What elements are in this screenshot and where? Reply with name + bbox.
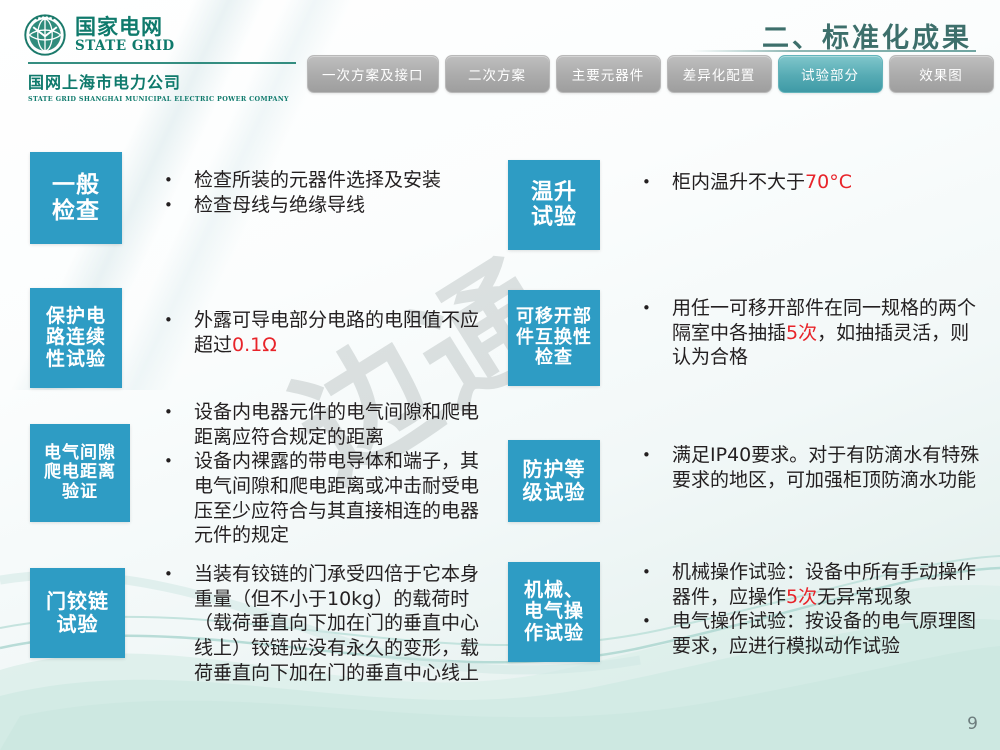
test-item-bullets: •满足IP40要求。对于有防滴水有特殊要求的地区，可加强柜顶防滴水功能 [638,443,983,492]
bullet-dot-icon: • [638,443,672,467]
company-name-en: STATE GRID SHANGHAI MUNICIPAL ELECTRIC P… [24,95,299,103]
text-run: 无异常现象 [817,586,912,608]
bullet-dot-icon: • [160,193,194,217]
test-item-badge: 保护电 路连续 性试验 [30,288,122,388]
bullet-dot-icon: • [160,168,194,192]
highlight-value: 0.1Ω [232,334,277,356]
test-item-bullets: •检查所装的元器件选择及安装•检查母线与绝缘导线 [160,168,490,217]
bullet-dot-icon: • [638,560,672,584]
bullet-dot-icon: • [160,400,194,424]
bullet-text: 检查母线与绝缘导线 [194,193,490,218]
bullet-dot-icon: • [160,449,194,473]
company-name-cn: 国网上海市电力公司 [24,69,299,93]
text-run: 设备内裸露的带电导体和端子，其电气间隙和爬电距离或冲击耐受电压至少应符合与其直接… [194,450,479,546]
bullet-dot-icon: • [638,296,672,320]
text-run: 检查母线与绝缘导线 [194,194,365,216]
bullet-row: •设备内裸露的带电导体和端子，其电气间隙和爬电距离或冲击耐受电压至少应符合与其直… [160,449,490,548]
bullet-text: 当装有铰链的门承受四倍于它本身重量（但不小于10kg）的载荷时（载荷垂直向下加在… [194,562,490,685]
tab-4[interactable]: 差异化配置 [667,55,772,93]
test-item-badge: 电气间隙 爬电距离 验证 [30,424,130,522]
tab-1[interactable]: 一次方案及接口 [307,55,439,93]
bullet-row: •检查所装的元器件选择及安装 [160,168,490,193]
bullet-text: 机械操作试验：设备中所有手动操作器件，应操作5次无异常现象 [672,560,983,609]
text-run: 满足IP40要求。对于有防滴水有特殊要求的地区，可加强柜顶防滴水功能 [672,444,979,491]
slide-canvas: 边通 国家电网 STATE GRID [0,0,1000,750]
bullet-text: 满足IP40要求。对于有防滴水有特殊要求的地区，可加强柜顶防滴水功能 [672,443,983,492]
title-underline [691,50,976,52]
brand-logo-block: 国家电网 STATE GRID 国网上海市电力公司 STATE GRID SHA… [24,14,299,103]
highlight-value: 5次 [786,586,817,608]
bullet-text: 外露可导电部分电路的电阻值不应超过0.1Ω [194,308,490,357]
brand-name-en: STATE GRID [75,40,175,54]
bullet-dot-icon: • [638,170,672,194]
text-run: 检查所装的元器件选择及安装 [194,169,441,191]
bullet-row: •满足IP40要求。对于有防滴水有特殊要求的地区，可加强柜顶防滴水功能 [638,443,983,492]
test-item-bullets: •用任一可移开部件在同一规格的两个隔室中各抽插5次，如抽插灵活，则认为合格 [638,296,983,370]
bullet-text: 用任一可移开部件在同一规格的两个隔室中各抽插5次，如抽插灵活，则认为合格 [672,296,983,370]
bullet-text: 柜内温升不大于70°C [672,170,983,195]
section-tabbar[interactable]: 一次方案及接口二次方案主要元器件差异化配置试验部分效果图 [307,55,994,93]
test-item-badge: 防护等 级试验 [508,440,600,522]
test-item-bullets: •机械操作试验：设备中所有手动操作器件，应操作5次无异常现象•电气操作试验：按设… [638,560,983,659]
bullet-row: •电气操作试验：按设备的电气原理图要求，应进行模拟动作试验 [638,609,983,658]
highlight-value: 70°C [805,171,852,193]
bullet-text: 电气操作试验：按设备的电气原理图要求，应进行模拟动作试验 [672,609,983,658]
tab-6[interactable]: 效果图 [889,55,994,93]
bullet-row: •机械操作试验：设备中所有手动操作器件，应操作5次无异常现象 [638,560,983,609]
test-item-badge: 机械、 电气操 作试验 [508,562,600,662]
bullet-row: •当装有铰链的门承受四倍于它本身重量（但不小于10kg）的载荷时（载荷垂直向下加… [160,562,490,685]
test-item-bullets: •柜内温升不大于70°C [638,170,983,195]
bullet-text: 检查所装的元器件选择及安装 [194,168,490,193]
bullet-row: •外露可导电部分电路的电阻值不应超过0.1Ω [160,308,490,357]
test-item-badge: 温升 试验 [508,160,600,250]
test-item-badge: 一般 检查 [30,152,122,244]
test-item-badge: 可移开部 件互换性 检查 [508,290,600,386]
bullet-text: 设备内裸露的带电导体和端子，其电气间隙和爬电距离或冲击耐受电压至少应符合与其直接… [194,449,490,548]
text-run: 柜内温升不大于 [672,171,805,193]
test-item-badge: 门铰链 试验 [30,568,125,658]
bullet-dot-icon: • [638,609,672,633]
bullet-dot-icon: • [160,562,194,586]
tab-3[interactable]: 主要元器件 [556,55,661,93]
bullet-text: 设备内电器元件的电气间隙和爬电距离应符合规定的距离 [194,400,490,449]
text-run: 当装有铰链的门承受四倍于它本身重量（但不小于10kg）的载荷时（载荷垂直向下加在… [194,563,479,684]
tab-5[interactable]: 试验部分 [778,55,883,93]
page-number: 9 [967,714,978,734]
text-run: 电气操作试验：按设备的电气原理图要求，应进行模拟动作试验 [672,610,976,657]
bullet-row: •设备内电器元件的电气间隙和爬电距离应符合规定的距离 [160,400,490,449]
bullet-row: •柜内温升不大于70°C [638,170,983,195]
text-run: 设备内电器元件的电气间隙和爬电距离应符合规定的距离 [194,401,479,448]
test-item-bullets: •外露可导电部分电路的电阻值不应超过0.1Ω [160,308,490,357]
highlight-value: 5次 [786,322,817,344]
bullet-row: •检查母线与绝缘导线 [160,193,490,218]
test-item-bullets: •设备内电器元件的电气间隙和爬电距离应符合规定的距离•设备内裸露的带电导体和端子… [160,400,490,548]
state-grid-emblem-icon [24,14,66,56]
brand-name-cn: 国家电网 [75,17,175,38]
bullet-row: •用任一可移开部件在同一规格的两个隔室中各抽插5次，如抽插灵活，则认为合格 [638,296,983,370]
test-item-bullets: •当装有铰链的门承受四倍于它本身重量（但不小于10kg）的载荷时（载荷垂直向下加… [160,562,490,685]
brand-divider [28,62,296,64]
tab-2[interactable]: 二次方案 [445,55,550,93]
bullet-dot-icon: • [160,308,194,332]
